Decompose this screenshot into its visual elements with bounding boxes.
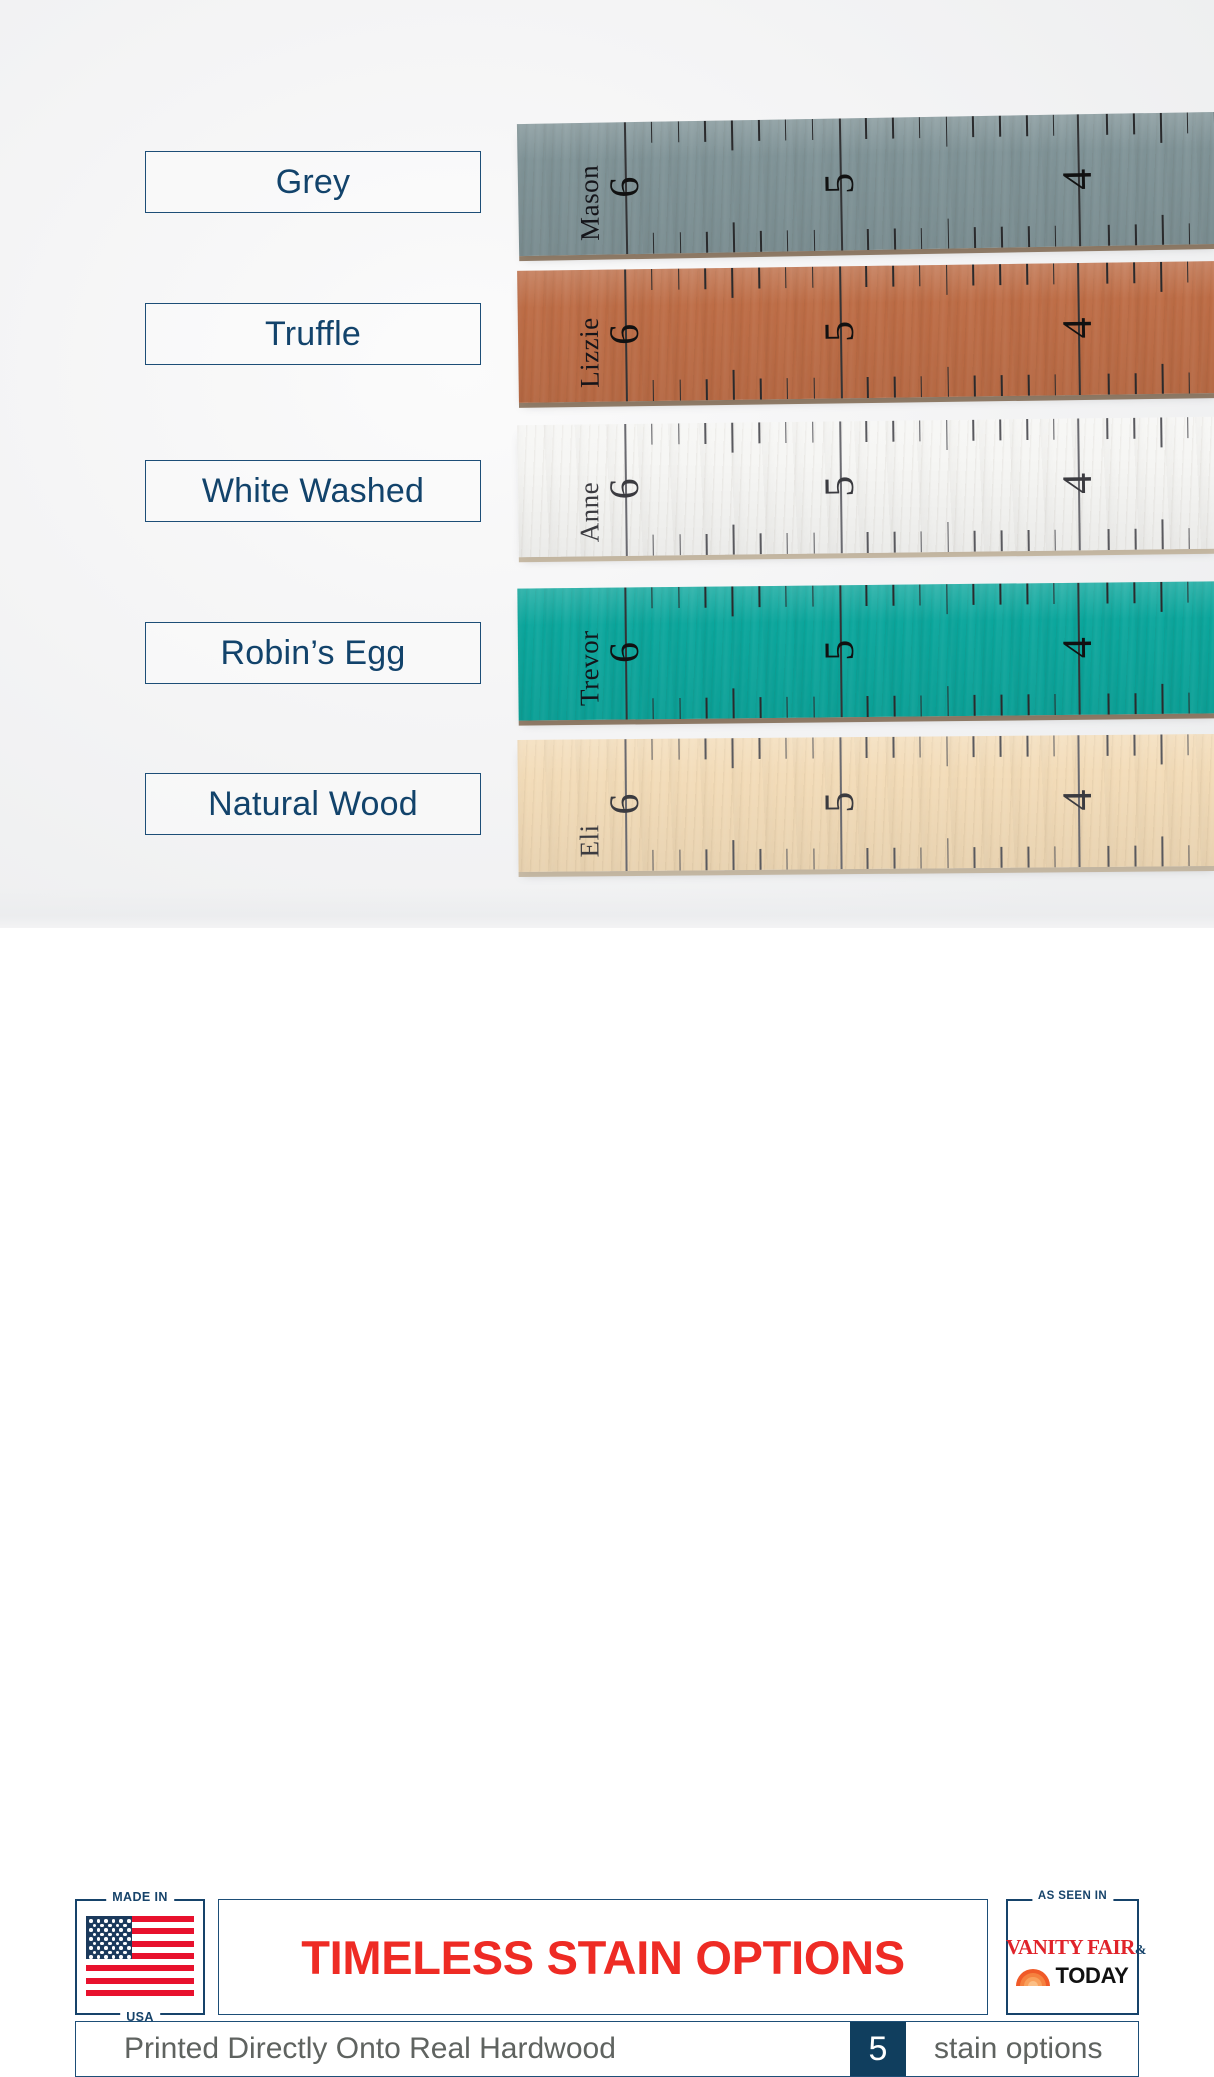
as-seen-in-badge: AS SEEN IN VANITY FAIR& TODAY xyxy=(1006,1899,1139,2015)
ruler-tick xyxy=(704,268,706,289)
ruler-tick xyxy=(678,423,680,444)
ruler-tick xyxy=(677,121,679,142)
ruler-tick xyxy=(867,377,869,398)
ruler-tick xyxy=(652,380,654,401)
ruler-tick xyxy=(1107,735,1109,756)
ruler-tick xyxy=(813,697,815,718)
ruler-tick xyxy=(759,849,761,870)
ruler-tick xyxy=(867,229,869,250)
ruler-tick xyxy=(1133,582,1135,603)
ruler-tick xyxy=(1026,419,1028,440)
ruler-tick xyxy=(1188,528,1190,549)
engraved-name: Anne xyxy=(574,482,606,543)
ruler-tick xyxy=(1054,374,1056,395)
ruler-tick xyxy=(705,738,707,759)
ruler-tick xyxy=(999,419,1001,440)
ruler-tick xyxy=(732,586,734,616)
ruler-tick xyxy=(758,586,760,607)
ruler-tick xyxy=(1001,530,1003,551)
ruler-tick xyxy=(972,116,974,137)
ruler-tick xyxy=(651,587,653,608)
engraved-name: Mason xyxy=(574,165,606,242)
ruler-tick xyxy=(706,698,708,719)
made-in-usa-badge: MADE IN USA xyxy=(75,1899,205,2015)
ruler-number: 5 xyxy=(819,464,862,509)
ruler-tick xyxy=(1160,417,1162,447)
ruler-tick xyxy=(867,696,869,717)
ruler-tick xyxy=(999,584,1001,605)
headline-text: TIMELESS STAIN OPTIONS xyxy=(301,1930,905,1985)
usa-flag-icon xyxy=(86,1916,194,1996)
ruler-tick xyxy=(1187,582,1189,603)
ruler-tick xyxy=(919,420,921,441)
stain-label-truffle[interactable]: Truffle xyxy=(145,303,481,365)
ruler-tick xyxy=(1028,530,1030,551)
stain-label-text: Natural Wood xyxy=(208,787,418,821)
ruler-tick xyxy=(758,422,760,443)
ruler-tick xyxy=(1054,846,1056,867)
ruler-tick xyxy=(1160,582,1162,612)
footer: MADE IN USA TIMELESS STAIN OPTIONS AS SE… xyxy=(0,928,1214,1214)
ruler-tick xyxy=(1108,225,1110,246)
stain-label-natural-wood[interactable]: Natural Wood xyxy=(145,773,481,835)
stain-label-text: Truffle xyxy=(265,317,361,351)
ruler-grey: 654Mason xyxy=(517,112,1214,256)
ruler-tick xyxy=(652,535,654,556)
ruler-tick xyxy=(785,738,787,759)
stain-label-robins-egg[interactable]: Robin’s Egg xyxy=(145,622,481,684)
ruler-tick xyxy=(999,116,1001,137)
ruler-tick xyxy=(785,422,787,443)
ruler-tick xyxy=(732,738,734,768)
ruler-tick xyxy=(787,230,789,251)
headline-box: TIMELESS STAIN OPTIONS xyxy=(218,1899,988,2015)
ruler-tick xyxy=(919,265,921,286)
stain-count-suffix: stain options xyxy=(934,2032,1102,2066)
ruler-number: 6 xyxy=(604,630,646,674)
ruler-tick xyxy=(1106,263,1108,284)
ruler-tick xyxy=(1161,836,1163,866)
ruler-tick xyxy=(758,268,760,289)
ruler-tick xyxy=(651,122,653,143)
ruler-tick xyxy=(892,737,894,758)
ruler-number: 4 xyxy=(1057,778,1099,822)
ruler-tick xyxy=(678,269,680,290)
ruler-tick xyxy=(1161,519,1163,549)
stain-label-grey[interactable]: Grey xyxy=(145,151,481,213)
ruler-tick xyxy=(1054,530,1056,551)
ruler-tick xyxy=(706,379,708,400)
today-text: TODAY xyxy=(1055,1963,1128,1989)
ruler-tick xyxy=(1187,262,1189,283)
ruler-tick xyxy=(1026,115,1028,136)
ruler-tick xyxy=(785,586,787,607)
ruler-tick xyxy=(812,422,814,443)
ruler-number: 4 xyxy=(1057,306,1100,351)
ruler-number: 4 xyxy=(1057,157,1100,202)
ruler-tick xyxy=(1135,224,1137,245)
ruler-tick xyxy=(974,376,976,397)
ruler-tick xyxy=(865,118,867,139)
ruler-tick xyxy=(1187,112,1189,133)
ruler-tick xyxy=(1133,113,1135,134)
ruler-tick xyxy=(760,378,762,399)
ruler-number: 6 xyxy=(604,782,646,826)
ruler-tick xyxy=(678,739,680,760)
ruler-tick xyxy=(920,531,922,552)
ruler-tick xyxy=(919,737,921,758)
ruler-tick xyxy=(1135,373,1137,394)
ruler-number: 6 xyxy=(604,467,647,512)
ruler-tick xyxy=(946,420,948,450)
made-in-label: MADE IN xyxy=(106,1890,174,1904)
ruler-number: 6 xyxy=(604,165,647,210)
ruler-tick xyxy=(892,266,894,287)
ruler-tick xyxy=(1026,264,1028,285)
ruler-tick xyxy=(1053,583,1055,604)
ruler-tick xyxy=(1000,736,1002,757)
ruler-tick xyxy=(973,420,975,441)
ruler-tick xyxy=(919,584,921,605)
ruler-tick xyxy=(1135,846,1137,867)
today-rainbow-icon xyxy=(1016,1967,1050,1986)
subtitle-text: Printed Directly Onto Real Hardwood xyxy=(124,2032,616,2066)
ruler-tick xyxy=(811,119,813,140)
ruler-tick xyxy=(651,269,653,290)
ruler-tick xyxy=(733,525,735,555)
ruler-tick xyxy=(759,697,761,718)
ruler-tick xyxy=(705,587,707,608)
vanity-fair-text: VANITY FAIR xyxy=(1006,1935,1135,1959)
ruler-tick xyxy=(1001,227,1003,248)
stain-label-text: Grey xyxy=(276,165,350,199)
engraved-name: Trevor xyxy=(574,630,606,706)
ruler-tick xyxy=(892,421,894,442)
ruler-tick xyxy=(973,584,975,605)
ruler-tick xyxy=(972,265,974,286)
ruler-tick xyxy=(1133,262,1135,283)
ruler-tick xyxy=(1189,223,1191,244)
ruler-truffle: 654Lizzie xyxy=(517,261,1214,403)
ruler-tick xyxy=(812,737,814,758)
ruler-tick xyxy=(1054,694,1056,715)
ruler-tick xyxy=(892,585,894,606)
ruler-number: 5 xyxy=(819,780,861,824)
ruler-tick xyxy=(865,266,867,287)
ruler-tick xyxy=(1108,529,1110,550)
ruler-tick xyxy=(1161,684,1163,714)
ruler-tick xyxy=(786,849,788,870)
ruler-tick xyxy=(733,688,735,718)
ruler-tick xyxy=(678,587,680,608)
ruler-tick xyxy=(760,533,762,554)
engraved-name: Lizzie xyxy=(574,317,606,388)
ruler-tick xyxy=(679,850,681,871)
ruler-tick xyxy=(947,522,949,552)
ruler-tick xyxy=(894,229,896,250)
ruler-tick xyxy=(920,695,922,716)
as-seen-in-label: AS SEEN IN xyxy=(1032,1890,1113,1902)
ruler-tick xyxy=(894,377,896,398)
ruler-tick xyxy=(920,848,922,869)
ruler-tick xyxy=(1028,375,1030,396)
ruler-tick xyxy=(947,686,949,716)
ruler-tick xyxy=(865,421,867,442)
ruler-tick xyxy=(1053,419,1055,440)
ruler-tick xyxy=(651,739,653,760)
ruler-tick xyxy=(813,378,815,399)
ruler-tick xyxy=(1027,847,1029,868)
ruler-tick xyxy=(652,698,654,719)
today-logo: TODAY xyxy=(1006,1963,1139,1989)
ruler-tick xyxy=(812,267,814,288)
ruler-tick xyxy=(1001,847,1003,868)
ruler-tick xyxy=(1107,582,1109,603)
ruler-tick xyxy=(1160,734,1162,764)
ruler-tick xyxy=(786,697,788,718)
ruler-tick xyxy=(1053,735,1055,756)
stain-label-text: White Washed xyxy=(202,474,424,508)
ruler-tick xyxy=(1133,418,1135,439)
ruler-tick xyxy=(652,850,654,871)
ruler-tick xyxy=(893,696,895,717)
ruler-number: 5 xyxy=(819,309,862,354)
ruler-number: 6 xyxy=(604,312,647,357)
ruler-tick xyxy=(893,848,895,869)
ruler-tick xyxy=(1107,418,1109,439)
ruler-tick xyxy=(1026,583,1028,604)
ruler-tick xyxy=(785,267,787,288)
ruler-tick xyxy=(920,376,922,397)
ruler-tick xyxy=(1187,417,1189,438)
ruler-tick xyxy=(731,423,733,453)
ruler-tick xyxy=(974,227,976,248)
ruler-tick xyxy=(760,231,762,252)
ruler-tick xyxy=(786,533,788,554)
ruler-tick xyxy=(947,838,949,868)
ruler-tick xyxy=(946,584,948,614)
ruler-tick xyxy=(867,848,869,869)
ruler-tick xyxy=(1053,115,1055,136)
product-photo: Grey Truffle White Washed Robin’s Egg Na… xyxy=(0,0,1214,928)
ruler-tick xyxy=(706,534,708,555)
ruler-tick xyxy=(974,531,976,552)
ruler-tick xyxy=(1187,734,1189,755)
ruler-tick xyxy=(679,534,681,555)
ruler-number: 4 xyxy=(1057,461,1100,506)
ruler-number: 5 xyxy=(819,161,862,206)
ruler-tick xyxy=(892,118,894,139)
vanity-fair-logo: VANITY FAIR& xyxy=(1006,1935,1139,1960)
ruler-number: 5 xyxy=(819,628,861,672)
ruler-tick xyxy=(1027,694,1029,715)
stain-label-white-washed[interactable]: White Washed xyxy=(145,460,481,522)
ruler-natural-wood: 654Eli xyxy=(517,734,1214,872)
ruler-tick xyxy=(1108,374,1110,395)
ruler-tick xyxy=(653,233,655,254)
ruler-tick xyxy=(1134,735,1136,756)
engraved-name: Eli xyxy=(574,824,605,857)
ruler-tick xyxy=(1188,693,1190,714)
ruler-number: 4 xyxy=(1057,626,1099,670)
ruler-tick xyxy=(758,120,760,141)
ruler-tick xyxy=(946,736,948,766)
ruler-tick xyxy=(679,232,681,253)
subtitle-bar: Printed Directly Onto Real Hardwood 5 st… xyxy=(75,2021,1139,2077)
ruler-tick xyxy=(1055,226,1057,247)
ruler-tick xyxy=(651,424,653,445)
ruler-tick xyxy=(1026,736,1028,757)
ruler-tick xyxy=(867,532,869,553)
ruler-tick xyxy=(733,840,735,870)
ruler-tick xyxy=(812,586,814,607)
ruler-tick xyxy=(1135,693,1137,714)
ruler-tick xyxy=(704,121,706,142)
stain-count-chip: 5 xyxy=(850,2022,906,2076)
ruler-tick xyxy=(813,230,815,251)
ruler-tick xyxy=(1188,845,1190,866)
ampersand: & xyxy=(1135,1943,1146,1958)
ruler-tick xyxy=(786,378,788,399)
ruler-tick xyxy=(1053,263,1055,284)
ruler-tick xyxy=(921,228,923,249)
ruler-tick xyxy=(974,847,976,868)
ruler-tick xyxy=(813,533,815,554)
ruler-tick xyxy=(1001,695,1003,716)
ruler-tick xyxy=(679,698,681,719)
ruler-tick xyxy=(1028,226,1030,247)
stain-label-text: Robin’s Egg xyxy=(221,636,406,670)
ruler-tick xyxy=(894,532,896,553)
ruler-tick xyxy=(1106,114,1108,135)
ruler-tick xyxy=(679,380,681,401)
ruler-tick xyxy=(999,264,1001,285)
ruler-tick xyxy=(785,119,787,140)
ruler-tick xyxy=(919,117,921,138)
ruler-tick xyxy=(758,738,760,759)
ruler-tick xyxy=(1001,375,1003,396)
ruler-tick xyxy=(1188,373,1190,394)
ruler-tick xyxy=(974,695,976,716)
ruler-tick xyxy=(1135,529,1137,550)
ruler-tick xyxy=(705,423,707,444)
ruler-white-washed: 654Anne xyxy=(517,417,1214,558)
ruler-robin-s-egg: 654Trevor xyxy=(517,581,1214,720)
ruler-tick xyxy=(706,849,708,870)
ruler-tick xyxy=(1108,693,1110,714)
ruler-tick xyxy=(813,848,815,869)
ruler-tick xyxy=(866,737,868,758)
ruler-tick xyxy=(1108,846,1110,867)
ruler-tick xyxy=(706,232,708,253)
ruler-tick xyxy=(865,585,867,606)
ruler-tick xyxy=(973,736,975,757)
